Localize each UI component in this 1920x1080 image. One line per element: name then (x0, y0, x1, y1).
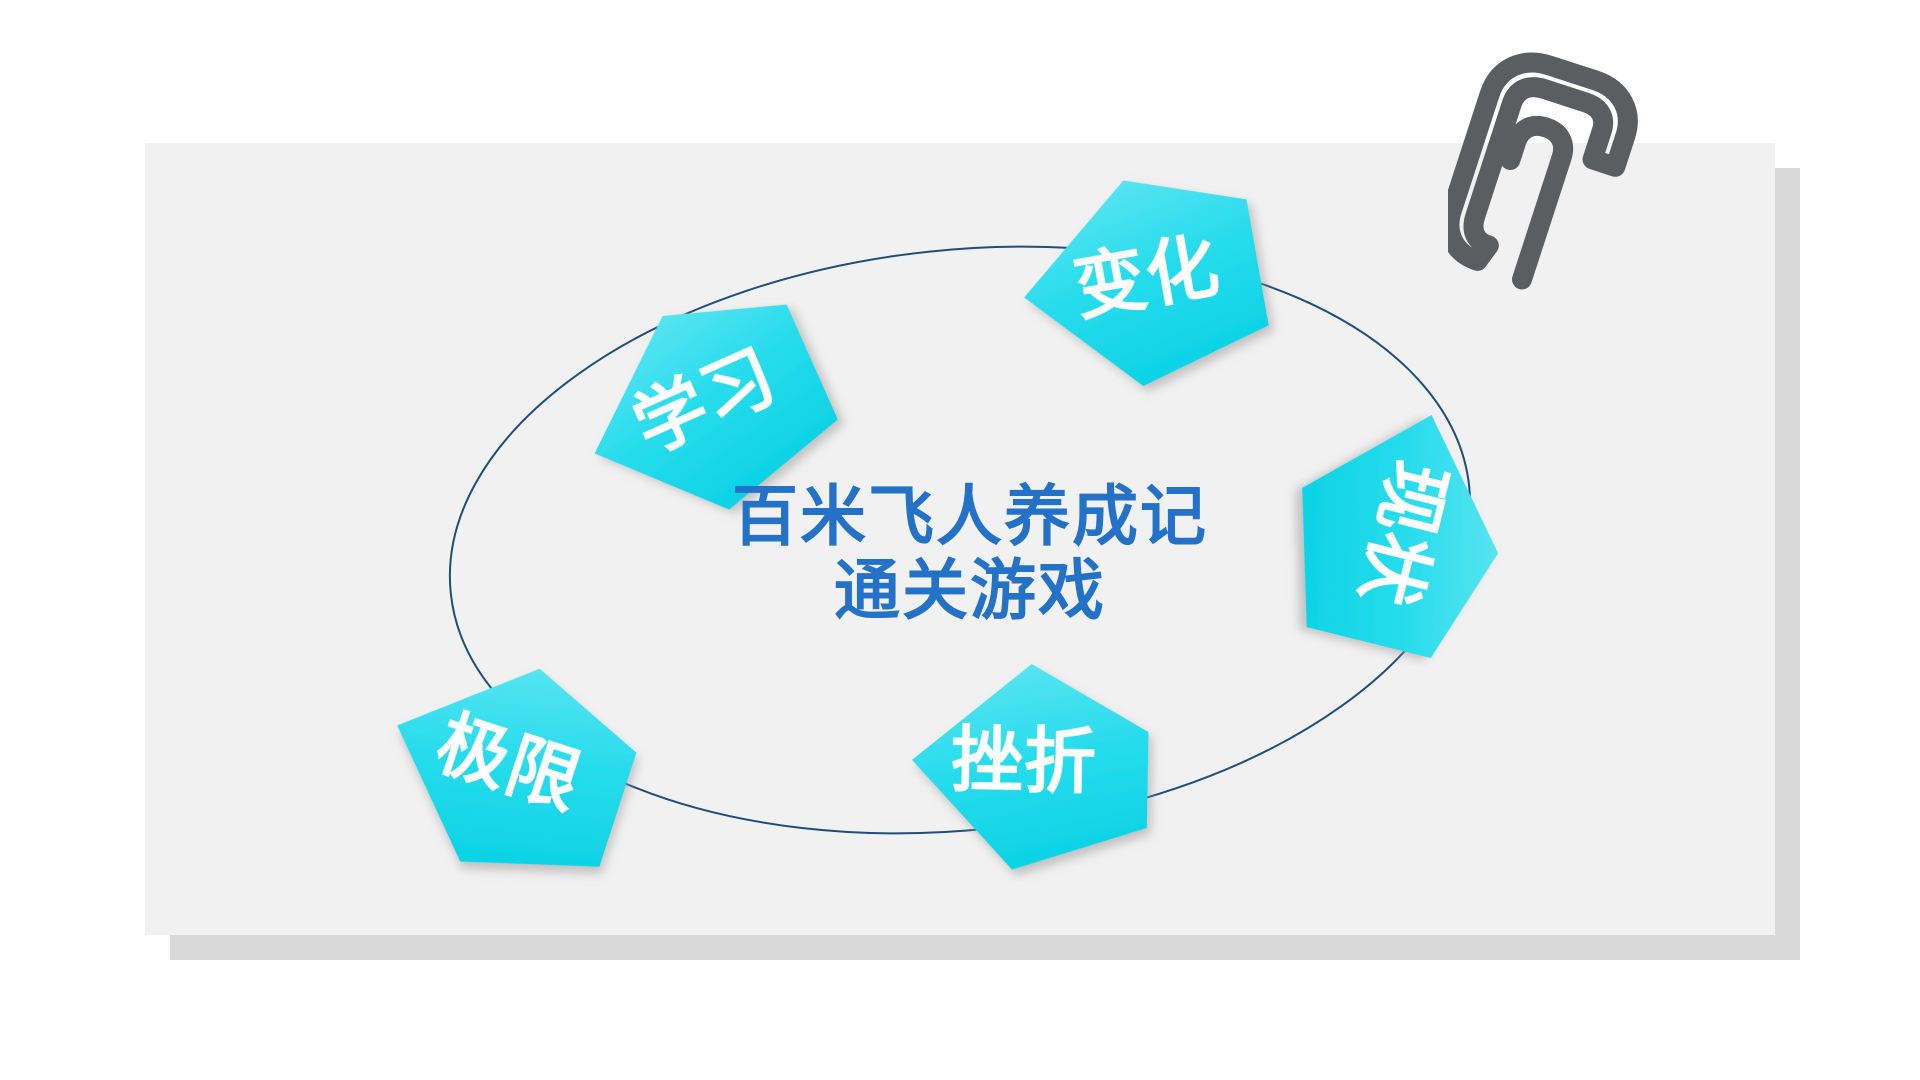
title-line-1: 百米飞人养成记 (620, 480, 1320, 554)
paperclip-icon (1448, 42, 1648, 292)
node-jixian[interactable]: 极限 (363, 632, 652, 903)
slide-canvas: 学习 变化 现状 挫折 极限 百米飞人养成记 通关游戏 (0, 0, 1920, 1080)
title-line-2: 通关游戏 (620, 554, 1320, 628)
node-bianhua[interactable]: 变化 (1007, 160, 1275, 404)
node-cuozhe[interactable]: 挫折 (910, 662, 1150, 872)
slide-title: 百米飞人养成记 通关游戏 (620, 480, 1320, 628)
node-cuozhe-label: 挫折 (950, 721, 1097, 804)
